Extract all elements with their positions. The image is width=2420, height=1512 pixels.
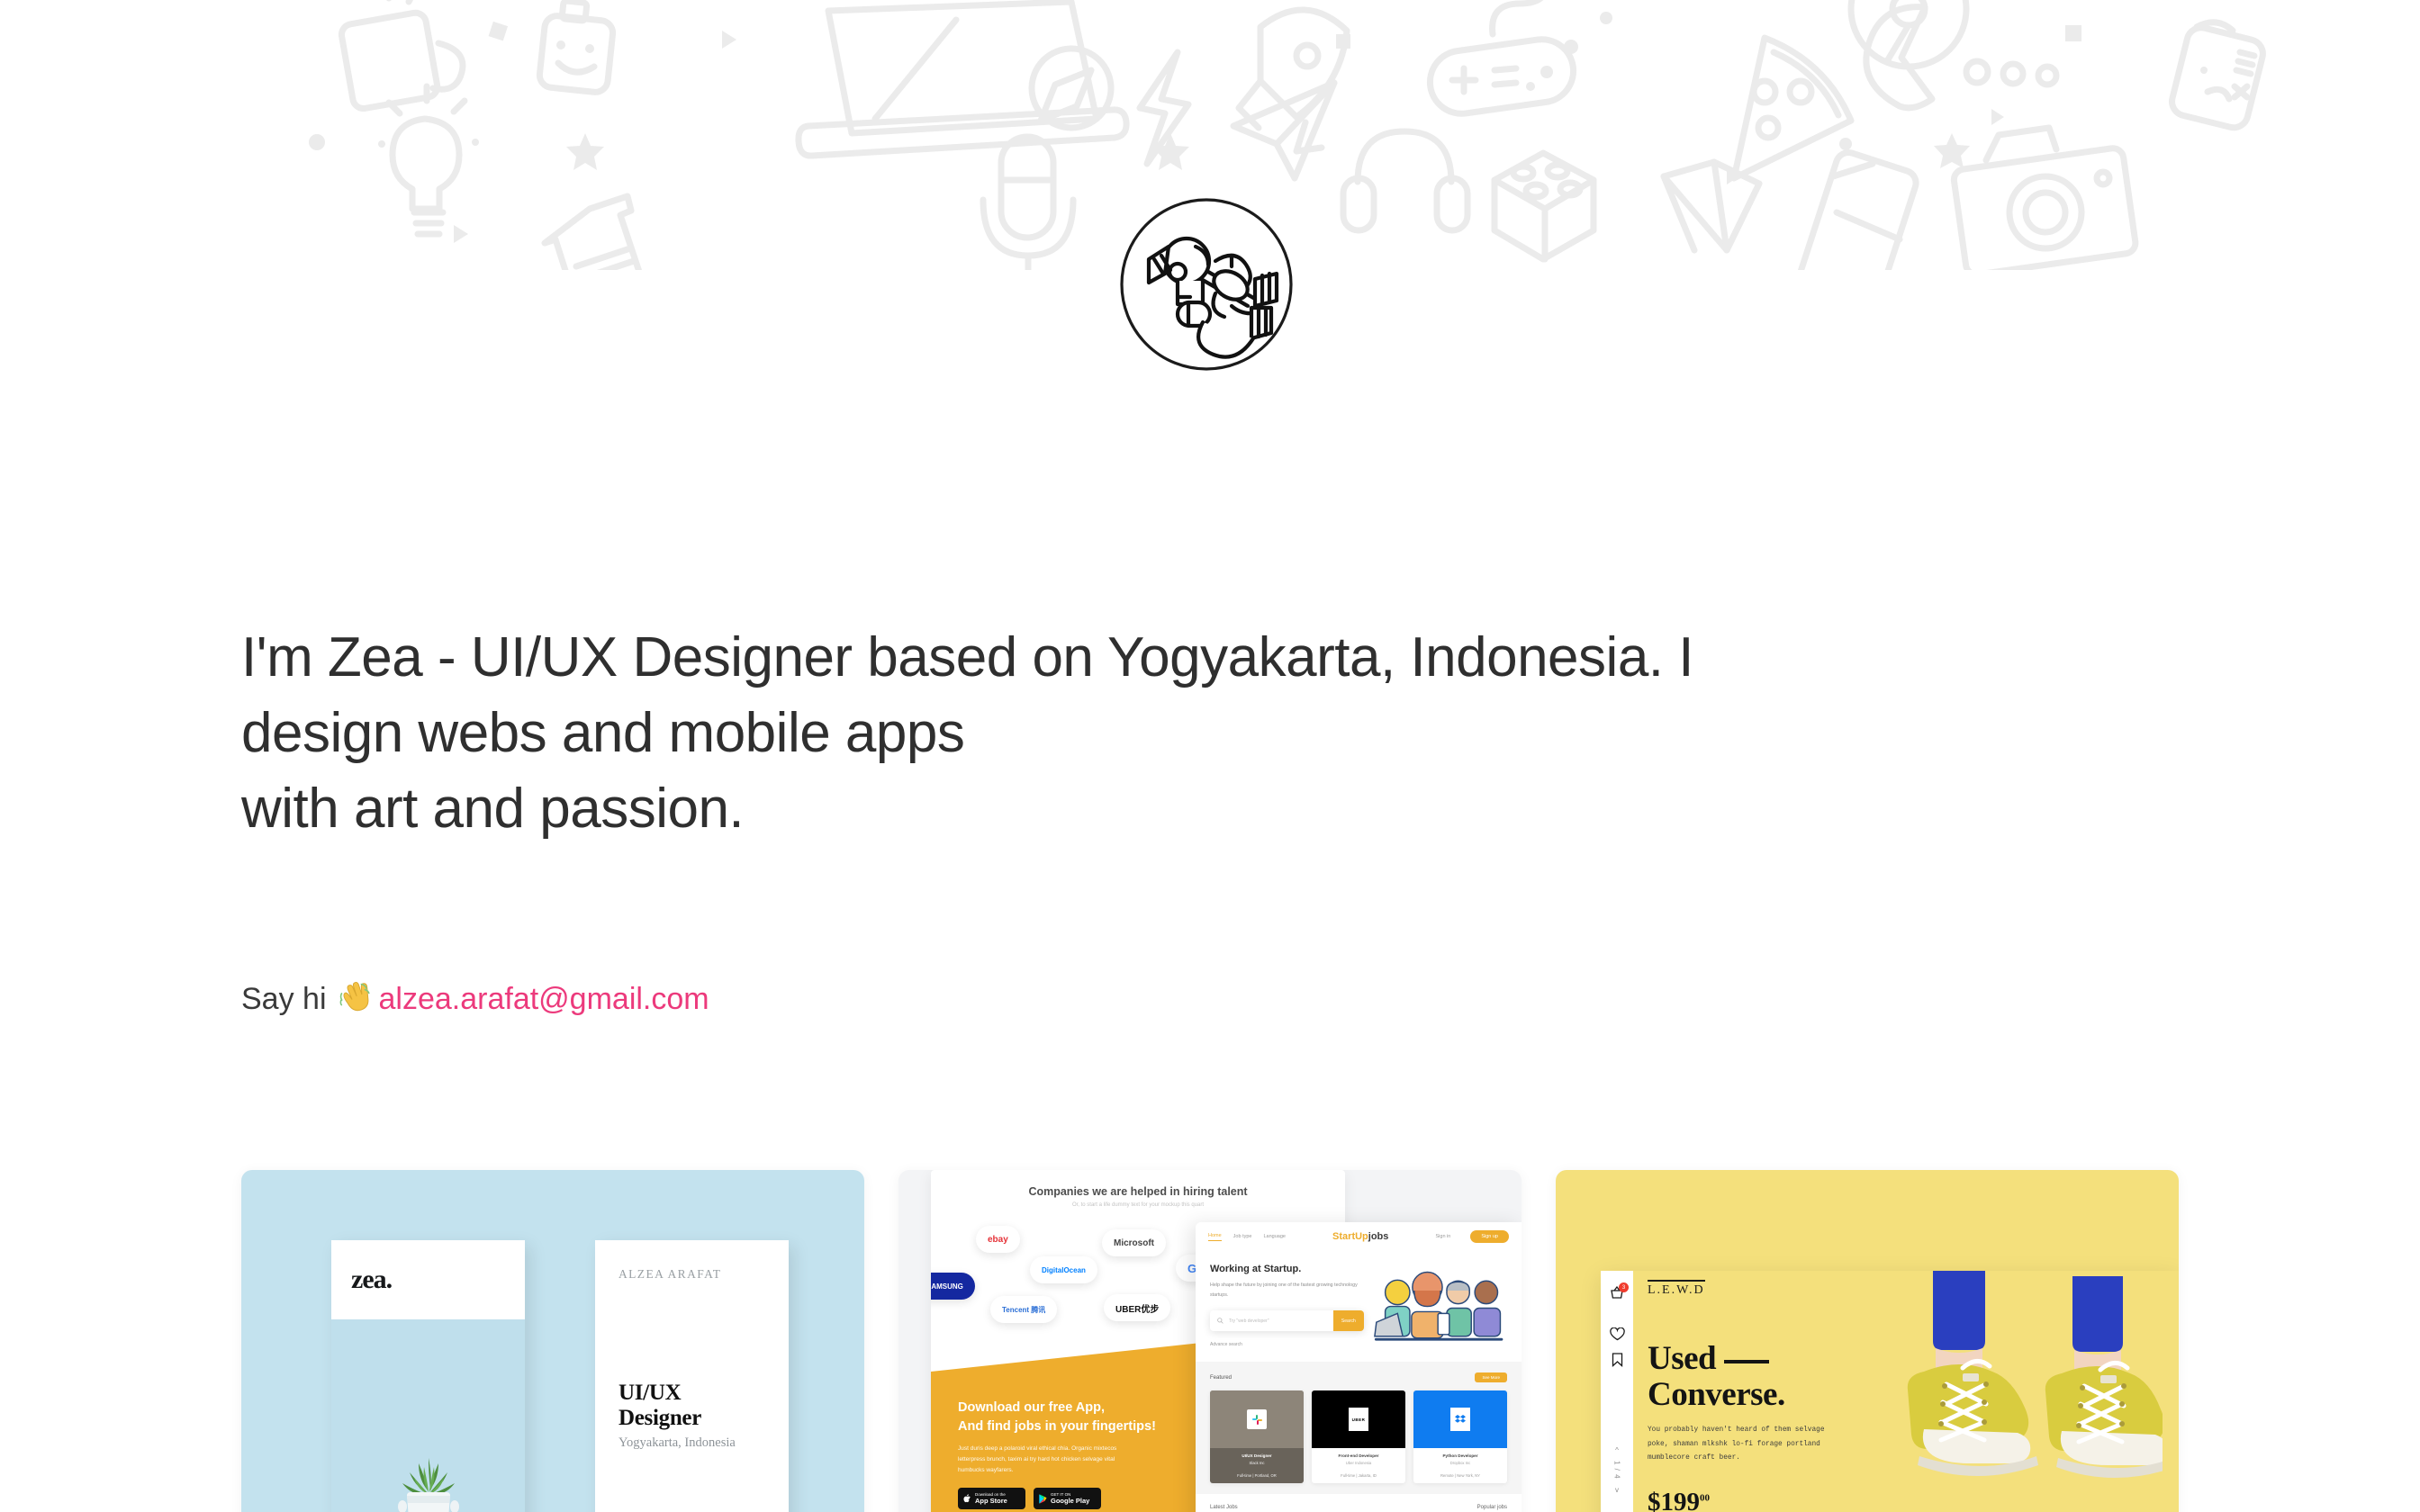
uber-logo-icon: UBER	[1349, 1408, 1368, 1431]
promo-wedge: Download our free App, And find jobs in …	[931, 1343, 1201, 1512]
say-hi-label: Say hi	[241, 982, 327, 1017]
advance-search-toggle[interactable]: Advance search	[1210, 1342, 1364, 1347]
succulent-plant-icon	[392, 1447, 465, 1512]
bookmark-icon[interactable]	[1612, 1353, 1623, 1372]
business-card-back: ALZEA ARAFAT UI/UX Designer Yogyakarta, …	[595, 1240, 789, 1512]
job-title: UI/UX Designer	[1215, 1453, 1298, 1458]
store-badges: Download on the App Store GET IT ON Goog…	[958, 1488, 1156, 1509]
google-play-badge[interactable]: GET IT ON Google Play	[1034, 1488, 1101, 1509]
projects-row: zea.	[241, 1170, 2179, 1512]
zea-logo-text: zea.	[351, 1264, 392, 1295]
hero-line-1: I'm Zea - UI/UX Designer based on Yogyak…	[241, 630, 2042, 686]
featured-label: Featured	[1210, 1375, 1232, 1381]
promo-text: Download our free App, And find jobs in …	[958, 1399, 1156, 1509]
landing-subline: Or, to start a life dummy text for your …	[931, 1202, 1345, 1208]
business-card-name: ALZEA ARAFAT	[619, 1267, 765, 1282]
logo-uber: UBER优步	[1104, 1294, 1170, 1321]
lewd-description: You probably haven't heard of them selva…	[1648, 1424, 1828, 1466]
job-footer: Full-time | Jakarta, ID	[1317, 1473, 1400, 1478]
triangle-icon	[722, 31, 736, 49]
coffee-mug-icon	[340, 0, 463, 110]
job-company: Uber Indonesia	[1317, 1461, 1400, 1465]
promo-title-1: Download our free App,	[958, 1399, 1156, 1417]
heart-icon[interactable]	[1610, 1327, 1625, 1345]
astronaut-logo[interactable]	[1118, 196, 1295, 373]
square-dot-icon	[489, 22, 508, 40]
job-card[interactable]: UBER Front-end Developer Uber Indonesia …	[1312, 1390, 1405, 1483]
business-card-front-body	[331, 1319, 525, 1512]
job-card[interactable]: Python Developer Dropbox Inc Remote | Ne…	[1413, 1390, 1507, 1483]
triangle-icon	[454, 225, 468, 243]
cd-disc-icon	[1851, 0, 1966, 67]
app-store-big: App Store	[975, 1498, 1007, 1505]
landing-headline: Companies we are helped in hiring talent	[931, 1185, 1345, 1198]
clipboard-icon	[2169, 22, 2266, 130]
gamepad-icon	[1426, 0, 1577, 118]
rocket-icon	[1239, 10, 1347, 151]
square-dot-icon	[2065, 25, 2081, 41]
site-navbar: Home Job type Language StartUpjobs Sign …	[1196, 1222, 1522, 1251]
portfolio-page: I'm Zea - UI/UX Designer based on Yogyak…	[0, 0, 2420, 1512]
contact-line: Say hi alzea.arafat@gmail.com	[241, 981, 709, 1017]
cart-badge: 3	[1619, 1282, 1629, 1292]
project-card-lewd[interactable]: 3 ^ 1 / 4 v L.E.W.D	[1556, 1170, 2179, 1512]
email-link[interactable]: alzea.arafat@gmail.com	[379, 982, 709, 1017]
hero-body: Help shape the future by joining one of …	[1210, 1281, 1364, 1300]
dot-icon	[1839, 138, 1852, 150]
lego-head-icon	[538, 1, 614, 94]
dropbox-logo-icon	[1450, 1408, 1470, 1431]
lewd-product-title: Used Converse.	[1648, 1341, 1828, 1413]
diamond-icon	[1664, 162, 1759, 250]
app-store-badge[interactable]: Download on the App Store	[958, 1488, 1025, 1509]
hero-line-2: design webs and mobile apps	[241, 706, 2042, 761]
square-dot-icon	[1336, 34, 1350, 49]
lewd-product-info: L.E.W.D Used Converse. You probably have…	[1648, 1280, 1828, 1512]
dot-icon	[1564, 40, 1578, 54]
logo-ebay: ebay	[976, 1226, 1020, 1253]
smartphone-icon	[1793, 149, 1919, 270]
star-icon	[566, 133, 604, 170]
job-title: Python Developer	[1419, 1453, 1502, 1458]
triangle-icon	[1991, 109, 2004, 125]
startupjobs-site: Home Job type Language StartUpjobs Sign …	[1196, 1222, 1522, 1512]
team-illustration	[1371, 1264, 1507, 1347]
pacman-icon	[1866, 7, 2056, 108]
job-footer: Remote | New York, NY	[1419, 1473, 1502, 1478]
pager-up-icon[interactable]: ^	[1615, 1446, 1619, 1454]
lightning-bolt-icon	[1140, 52, 1188, 164]
logo-samsung: SAMSUNG	[931, 1273, 975, 1300]
latest-jobs-header: Latest Jobs Popular jobs	[1196, 1494, 1522, 1512]
star-icon	[1934, 133, 1970, 168]
star-icon	[1151, 133, 1189, 170]
lewd-price: $19900	[1648, 1488, 1828, 1512]
logo-microsoft: Microsoft	[1102, 1229, 1166, 1256]
startupjobs-logo: StartUpjobs	[1332, 1231, 1388, 1242]
triangle-icon	[1727, 168, 1739, 184]
google-play-big: Google Play	[1051, 1498, 1089, 1505]
lightbulb-icon	[378, 86, 479, 234]
lewd-brand: L.E.W.D	[1648, 1280, 1705, 1298]
featured-section: Featured See More UI/UX Designer	[1196, 1362, 1522, 1494]
lewd-product-panel: 3 ^ 1 / 4 v L.E.W.D	[1601, 1271, 2179, 1512]
laptop-icon	[799, 2, 1126, 156]
camera-icon	[1953, 128, 2137, 270]
pager-down-icon[interactable]: v	[1615, 1486, 1619, 1494]
converse-product-image	[1883, 1271, 2163, 1512]
pizza-icon	[1734, 38, 1851, 178]
dot-icon	[309, 134, 325, 150]
hero-headline: I'm Zea - UI/UX Designer based on Yogyak…	[241, 630, 2042, 857]
pager-count: 1 / 4	[1613, 1461, 1621, 1480]
job-company: Dropbox Inc	[1419, 1461, 1502, 1465]
dot-icon	[1600, 12, 1612, 24]
paper-plane-icon	[1233, 83, 1334, 178]
microphone-icon	[983, 137, 1073, 270]
hero-line-3: with art and passion.	[241, 781, 2042, 837]
search-icon	[1217, 1318, 1224, 1324]
title-line-2: Converse.	[1648, 1376, 1785, 1413]
headphones-icon	[1343, 131, 1467, 230]
nav-home[interactable]: Home	[1208, 1233, 1222, 1241]
business-card-role: UI/UX Designer	[619, 1381, 765, 1431]
compass-icon	[1032, 49, 1111, 128]
project-card-zea-branding[interactable]: zea.	[241, 1170, 864, 1512]
flask-icon	[545, 196, 649, 270]
lewd-pager[interactable]: ^ 1 / 4 v	[1613, 1446, 1621, 1494]
sign-up-button[interactable]: Sign up	[1470, 1230, 1509, 1243]
lewd-sidebar: 3 ^ 1 / 4 v	[1601, 1271, 1633, 1512]
lego-brick-icon	[1494, 153, 1594, 259]
title-line-1: Used	[1648, 1340, 1716, 1377]
job-company: Slack Inc	[1215, 1461, 1298, 1465]
search-button[interactable]: Search	[1333, 1310, 1364, 1331]
slack-logo-icon	[1247, 1409, 1267, 1429]
project-card-startupjobs[interactable]: Companies we are helped in hiring talent…	[898, 1170, 1522, 1512]
promo-title-2: And find jobs in your fingertips!	[958, 1417, 1156, 1436]
job-search-bar[interactable]: Try "web developer" Search	[1210, 1310, 1364, 1331]
title-dash	[1724, 1360, 1769, 1363]
cart-icon[interactable]: 3	[1610, 1286, 1624, 1304]
hero-title: Working at Startup.	[1210, 1264, 1364, 1274]
waving-hand-icon	[336, 981, 372, 1017]
see-more-button[interactable]: See More	[1475, 1372, 1507, 1382]
job-card[interactable]: UI/UX Designer Slack Inc Full-time | Por…	[1210, 1390, 1304, 1483]
business-card-front-top: zea.	[331, 1240, 525, 1319]
nav-job-type[interactable]: Job type	[1233, 1234, 1252, 1239]
business-card-front: zea.	[331, 1240, 525, 1512]
job-footer: Full-time | Portland, OR	[1215, 1473, 1298, 1478]
business-card-location: Yogyakarta, Indonesia	[619, 1435, 765, 1451]
job-title: Front-end Developer	[1317, 1453, 1400, 1458]
latest-jobs-label: Latest Jobs	[1210, 1505, 1238, 1510]
search-placeholder[interactable]: Try "web developer"	[1229, 1318, 1333, 1324]
logo-tencent: Tencent 腾讯	[990, 1296, 1057, 1323]
promo-body: Just duris deep a polaroid viral ethical…	[958, 1444, 1142, 1475]
logo-digitalocean: DigitalOcean	[1030, 1256, 1097, 1283]
sign-in-link[interactable]: Sign in	[1436, 1234, 1451, 1239]
site-hero: Working at Startup. Help shape the futur…	[1196, 1251, 1522, 1362]
nav-language[interactable]: Language	[1263, 1234, 1285, 1239]
popular-jobs-filter[interactable]: Popular jobs	[1477, 1505, 1507, 1510]
featured-jobs-list: UI/UX Designer Slack Inc Full-time | Por…	[1210, 1390, 1507, 1483]
